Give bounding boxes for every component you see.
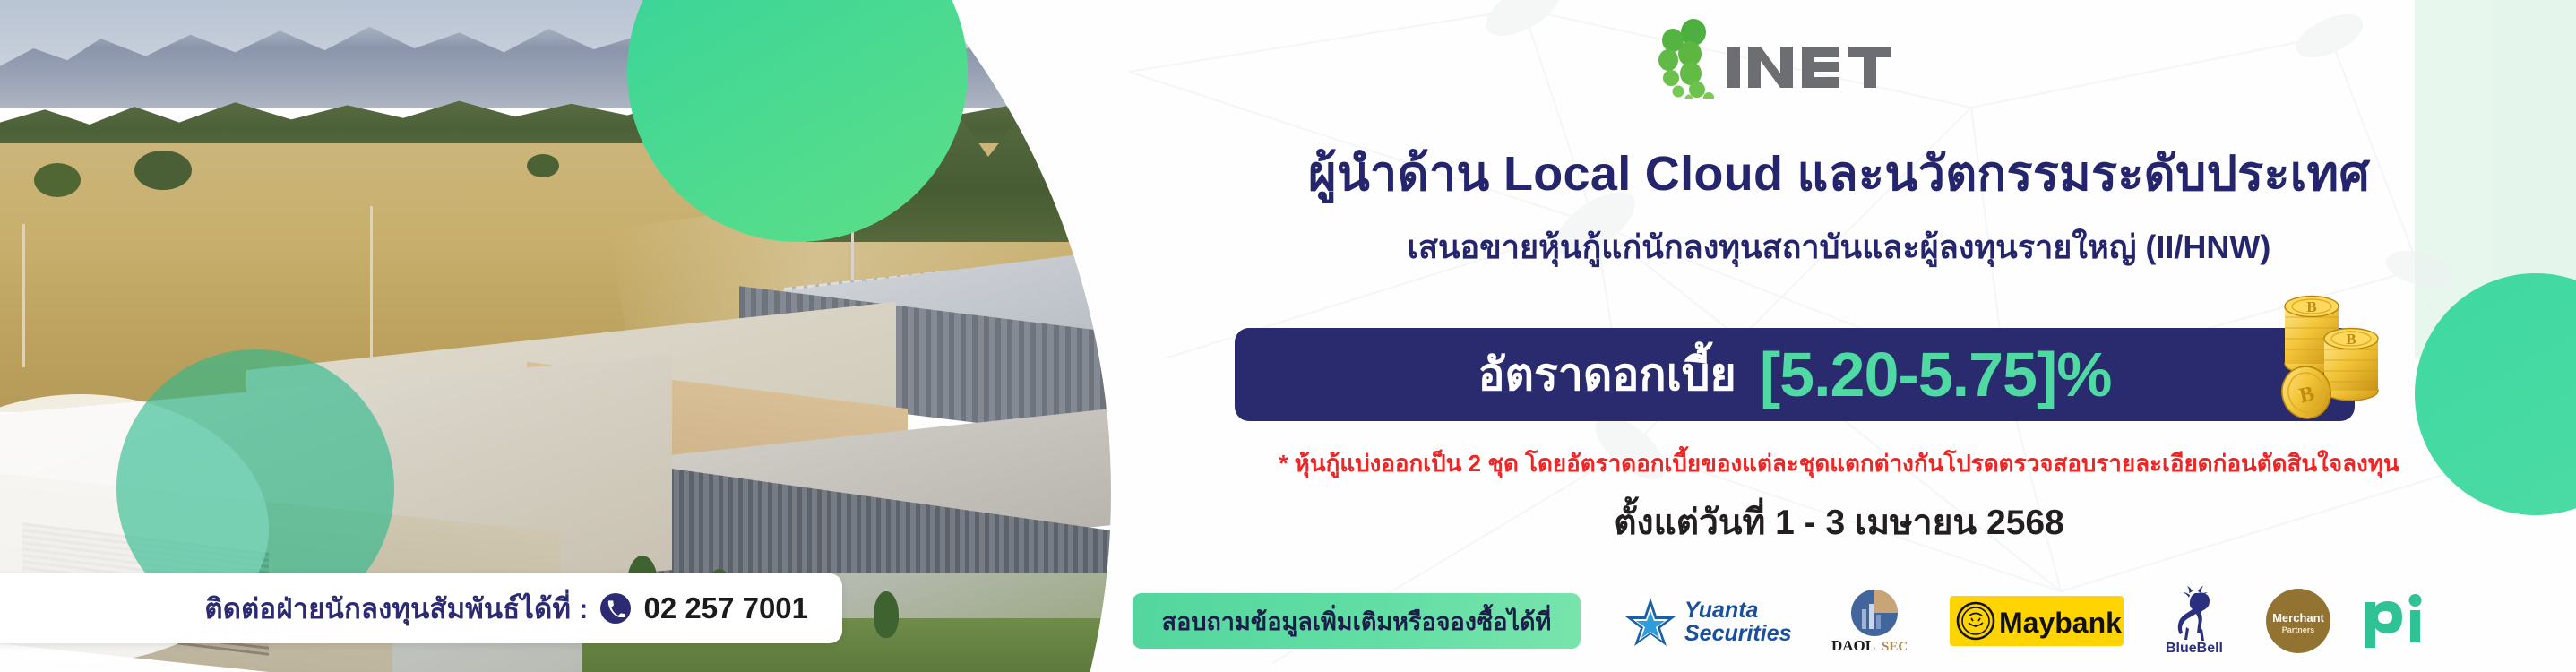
page-title: ผู้นำด้าน Local Cloud และนวัตกรรมระดับปร… bbox=[1102, 134, 2576, 211]
svg-text:B: B bbox=[2346, 331, 2356, 348]
svg-text:SEC: SEC bbox=[1882, 640, 1908, 654]
svg-text:Merchant: Merchant bbox=[2272, 611, 2324, 625]
partner-logos: Yuanta Securities D bbox=[1620, 586, 2430, 656]
svg-text:B: B bbox=[2306, 298, 2316, 315]
campus-photo-wrap bbox=[0, 0, 1120, 672]
inet-logo bbox=[1626, 13, 1922, 99]
investor-relations-contact-box: ติดต่อฝ่ายนักลงทุนสัมพันธ์ได้ที่ : 02 25… bbox=[0, 573, 842, 643]
svg-text:Partners: Partners bbox=[2282, 625, 2315, 634]
daol-circle-icon bbox=[1851, 590, 1898, 636]
subtitle: เสนอขายหุ้นกู้แก่นักลงทุนสถาบันและผู้ลงท… bbox=[1102, 221, 2576, 272]
partner-logo-bluebell[interactable]: BlueBell bbox=[2150, 586, 2238, 656]
contact-phone-number: 02 257 7001 bbox=[643, 591, 808, 625]
contact-label: ติดต่อฝ่ายนักลงทุนสัมพันธ์ได้ที่ : bbox=[204, 586, 588, 631]
inquiry-cta-button[interactable]: สอบถามข้อมูลเพิ่มเติมหรือจองซื้อได้ที่ bbox=[1133, 593, 1581, 649]
interest-rate-value: [5.20-5.75]% bbox=[1760, 343, 2112, 406]
svg-text:Maybank: Maybank bbox=[1999, 607, 2122, 639]
pi-wordmark-icon bbox=[2365, 594, 2422, 648]
inet-dots-logo-icon bbox=[1658, 19, 1714, 99]
disclaimer-note: * หุ้นกู้แบ่งออกเป็น 2 ชุด โดยอัตราดอกเบ… bbox=[1102, 445, 2576, 482]
partner-logo-pi[interactable] bbox=[2358, 593, 2430, 649]
gold-coin-stack-icon: B B bbox=[2274, 287, 2392, 421]
promo-content: ผู้นำด้าน Local Cloud และนวัตกรรมระดับปร… bbox=[1102, 0, 2576, 672]
offer-period: ตั้งแต่วันที่ 1 - 3 เมษายน 2568 bbox=[1102, 495, 2576, 550]
svg-text:Securities: Securities bbox=[1684, 621, 1792, 646]
inet-wordmark bbox=[1727, 47, 1891, 88]
svg-text:BlueBell: BlueBell bbox=[2166, 641, 2223, 656]
bluebell-deer-icon bbox=[2178, 586, 2210, 641]
svg-text:Yuanta: Yuanta bbox=[1684, 598, 1759, 623]
partner-logo-yuanta[interactable]: Yuanta Securities bbox=[1620, 590, 1799, 652]
promo-banner: ติดต่อฝ่ายนักลงทุนสัมพันธ์ได้ที่ : 02 25… bbox=[0, 0, 2576, 672]
yuanta-star-icon bbox=[1625, 598, 1676, 646]
interest-rate-label: อัตราดอกเบี้ย bbox=[1478, 340, 1736, 410]
footer-row: สอบถามข้อมูลเพิ่มเติมหรือจองซื้อได้ที่ Y… bbox=[1133, 582, 2566, 659]
partner-logo-merchant-partners[interactable]: Merchant Partners bbox=[2265, 588, 2331, 654]
partner-logo-daol-sec[interactable]: DAOL SEC bbox=[1826, 586, 1923, 656]
svg-text:DAOL: DAOL bbox=[1831, 637, 1875, 654]
partner-logo-maybank[interactable]: Maybank bbox=[1950, 596, 2124, 646]
phone-icon bbox=[600, 593, 631, 624]
interest-rate-box: อัตราดอกเบี้ย [5.20-5.75]% bbox=[1235, 328, 2355, 421]
